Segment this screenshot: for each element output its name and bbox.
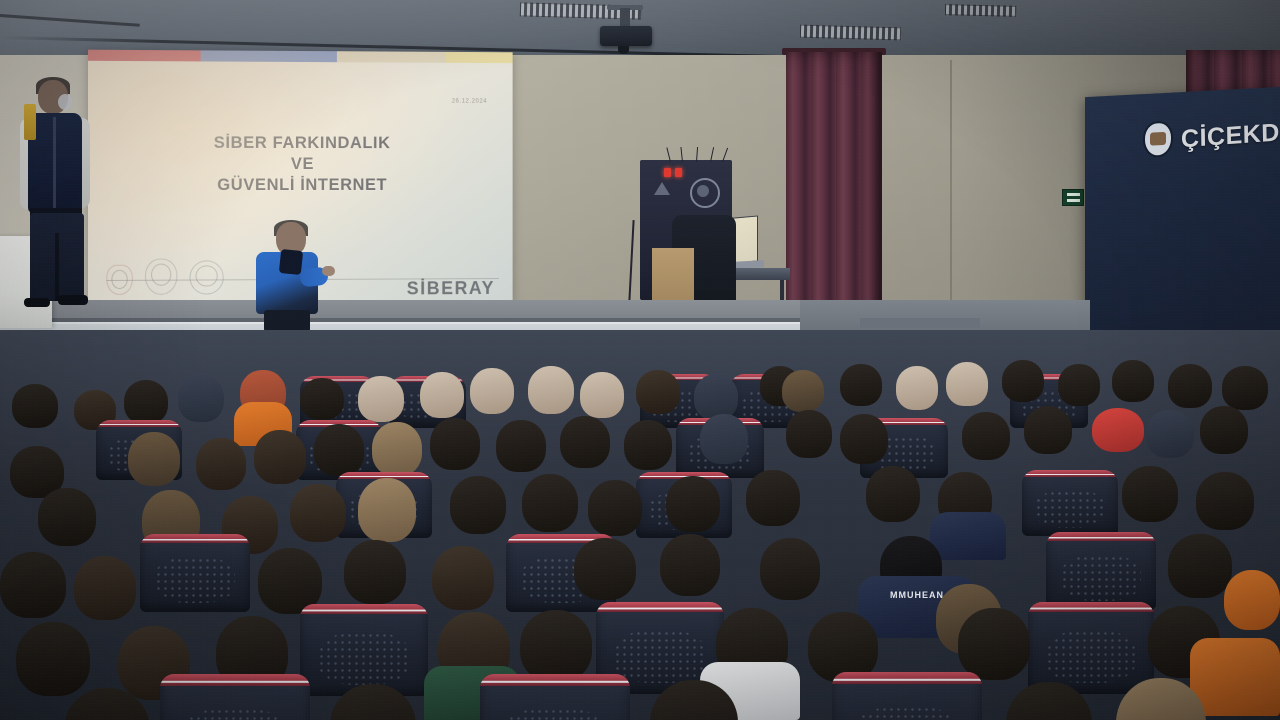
slide-title-line-3: GÜVENLİ İNTERNET	[88, 175, 513, 196]
status-leds	[664, 168, 682, 177]
audience-head	[522, 474, 578, 532]
audience-head	[782, 370, 824, 412]
audience-head	[1200, 406, 1248, 454]
audience-head	[372, 422, 422, 476]
cabinet-triangle-icon	[654, 182, 670, 195]
audience-head	[636, 370, 680, 414]
audience-head	[958, 608, 1030, 680]
slide-color-bar	[88, 50, 513, 63]
audience-head	[520, 610, 592, 682]
audience-head	[528, 366, 574, 414]
audience-head	[16, 622, 90, 696]
speaker-legs	[264, 310, 310, 332]
audience-head	[746, 470, 800, 526]
audience-head	[358, 478, 416, 542]
stage-curtain-center	[786, 52, 882, 340]
auditorium-seat	[1022, 470, 1118, 536]
ceiling-projector	[600, 26, 652, 46]
projector-mount	[620, 8, 630, 28]
audience-head	[450, 476, 506, 534]
standing-police-officer	[18, 80, 96, 306]
projector-lens-icon	[618, 46, 629, 54]
audience-head	[666, 476, 720, 532]
led-indicator-2	[675, 168, 682, 177]
audience-head	[560, 416, 610, 468]
police-emblem-icon	[145, 258, 177, 294]
audience-head	[946, 362, 988, 406]
slide-title-line-2: VE	[88, 154, 513, 175]
audience-head	[694, 374, 738, 420]
audience-head	[1146, 410, 1194, 458]
audience-head	[760, 538, 820, 600]
banner-text: ÇİÇEKDAĞI	[1181, 115, 1280, 154]
audience-head	[38, 488, 96, 546]
audience-head	[300, 378, 344, 420]
speaker-collar	[279, 249, 303, 275]
audience-head	[1122, 466, 1178, 522]
town-crest-icon	[1145, 123, 1171, 156]
presenting-officer	[252, 222, 326, 328]
siberay-logo: SİBERAY	[407, 278, 495, 299]
audience-head	[896, 366, 938, 410]
audience-head	[660, 534, 720, 596]
audience-head	[254, 430, 306, 484]
officer-tactical-vest	[28, 113, 82, 213]
audience-head	[786, 410, 832, 458]
audience-head	[420, 372, 464, 418]
audience-head	[1024, 406, 1072, 454]
audience-head	[840, 414, 888, 464]
audience-head	[124, 380, 168, 424]
stage-riser	[860, 318, 980, 328]
audience-head	[496, 420, 546, 472]
officer-shoe-right	[58, 295, 88, 305]
auditorium-seat	[480, 674, 630, 720]
audience-head	[1222, 366, 1268, 410]
auditorium-seat	[1046, 532, 1156, 610]
audience-head	[1168, 534, 1232, 598]
audience-head	[358, 376, 404, 422]
auditorium-seat	[832, 672, 982, 720]
audience-head	[840, 364, 882, 406]
ceiling-bracket	[0, 14, 140, 27]
officer-polis-patch	[24, 104, 36, 140]
slide-title-line-1: SİBER FARKINDALIK	[88, 133, 513, 155]
audience-head	[580, 372, 624, 418]
audience-head	[962, 412, 1010, 460]
audience-head	[1092, 408, 1144, 452]
audience-body	[930, 512, 1006, 560]
cicekdagi-banner: ÇİÇEKDAĞI	[1085, 87, 1280, 355]
audience-head	[1002, 360, 1044, 402]
exit-sign-icon	[1062, 189, 1084, 206]
audience-head	[344, 540, 406, 604]
audience-head	[432, 546, 494, 610]
slide-emblems	[106, 258, 223, 295]
audience-head	[314, 424, 364, 476]
slide-date-stamp: 26.12.2024	[452, 99, 487, 105]
audience-head	[430, 418, 480, 470]
auditorium-photo: 26.12.2024 SİBER FARKINDALIK VE GÜVENLİ …	[0, 0, 1280, 720]
auditorium-seat	[160, 674, 310, 720]
audience-head	[470, 368, 514, 414]
audience-head	[1112, 360, 1154, 402]
audience-head	[1168, 364, 1212, 408]
audience-head	[178, 374, 224, 422]
audience-head	[0, 552, 66, 618]
audience-body	[1190, 638, 1280, 716]
ceiling-vent-1	[520, 2, 642, 19]
audience-head	[574, 538, 636, 600]
auditorium-seat	[300, 604, 428, 696]
ceiling-vent-3	[945, 4, 1017, 17]
audience-head	[128, 432, 180, 486]
projector-plate	[607, 5, 643, 10]
audience-head	[588, 480, 642, 536]
audience-head	[624, 420, 672, 470]
ministry-emblem-icon	[189, 260, 223, 294]
led-indicator-1	[664, 168, 671, 177]
officer-shoulder-badge-icon	[58, 94, 72, 110]
audience-head	[290, 484, 346, 542]
audience-head	[700, 414, 748, 464]
speaker-hand	[322, 266, 335, 276]
cabinet-emblem-icon	[690, 178, 720, 208]
audience-head	[1196, 472, 1254, 530]
audience-head	[1058, 364, 1100, 406]
slide-title: SİBER FARKINDALIK VE GÜVENLİ İNTERNET	[88, 133, 513, 197]
auditorium-seat	[1028, 602, 1154, 694]
audience-head	[866, 466, 920, 522]
audience-head	[1224, 570, 1280, 630]
ceiling-vent-2	[800, 25, 902, 41]
audience-head	[196, 438, 246, 490]
officer-shoe-left	[24, 298, 50, 307]
audience-head	[12, 384, 58, 428]
audience-head	[74, 556, 136, 620]
cabinet-antennae	[670, 146, 730, 162]
auditorium-seat	[140, 534, 250, 612]
audience-area: MMUHEAN	[0, 330, 1280, 720]
officer-trousers	[30, 213, 84, 301]
